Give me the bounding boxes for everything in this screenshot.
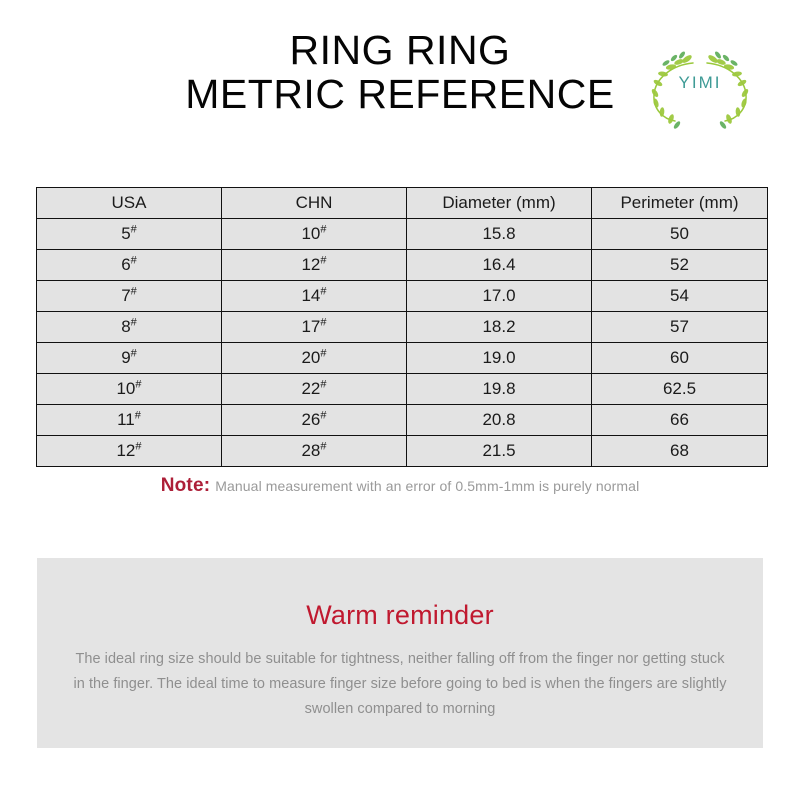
table-header-row: USA CHN Diameter (mm) Perimeter (mm) xyxy=(37,188,768,219)
table-row: 9#20#19.060 xyxy=(37,343,768,374)
cell-chn-size-4: 20# xyxy=(222,343,407,374)
hash-superscript: # xyxy=(135,378,141,390)
cell-usa-size-7: 12# xyxy=(37,436,222,467)
cell-chn-size-7: 28# xyxy=(222,436,407,467)
cell-chn-size-0: 10# xyxy=(222,219,407,250)
hash-superscript: # xyxy=(131,316,137,328)
cell-perimeter-0: 50 xyxy=(592,219,768,250)
column-header-diameter: Diameter (mm) xyxy=(407,188,592,219)
cell-usa-size-6: 11# xyxy=(37,405,222,436)
note-text: Manual measurement with an error of 0.5m… xyxy=(215,478,639,494)
hash-superscript: # xyxy=(320,378,326,390)
cell-diameter-7: 21.5 xyxy=(407,436,592,467)
cell-chn-size-2: 14# xyxy=(222,281,407,312)
hash-superscript: # xyxy=(131,254,137,266)
cell-usa-size-4: 9# xyxy=(37,343,222,374)
hash-superscript: # xyxy=(320,440,326,452)
cell-perimeter-1: 52 xyxy=(592,250,768,281)
cell-diameter-1: 16.4 xyxy=(407,250,592,281)
cell-diameter-5: 19.8 xyxy=(407,374,592,405)
cell-diameter-4: 19.0 xyxy=(407,343,592,374)
cell-chn-size-3: 17# xyxy=(222,312,407,343)
warm-reminder-title: Warm reminder xyxy=(37,600,763,631)
ring-size-table: USA CHN Diameter (mm) Perimeter (mm) 5#1… xyxy=(36,187,768,467)
table-row: 12#28#21.568 xyxy=(37,436,768,467)
note-label: Note: xyxy=(161,475,211,496)
warm-reminder-body: The ideal ring size should be suitable f… xyxy=(73,647,727,722)
logo-wordmark: YIMI xyxy=(641,73,759,93)
hash-superscript: # xyxy=(131,347,137,359)
cell-chn-size-5: 22# xyxy=(222,374,407,405)
table-row: 8#17#18.257 xyxy=(37,312,768,343)
cell-chn-size-1: 12# xyxy=(222,250,407,281)
page-header: RING RING METRIC REFERENCE xyxy=(0,0,800,165)
ring-size-table-container: USA CHN Diameter (mm) Perimeter (mm) 5#1… xyxy=(36,187,767,467)
column-header-perimeter: Perimeter (mm) xyxy=(592,188,768,219)
note-line: Note:Manual measurement with an error of… xyxy=(0,475,800,497)
column-header-chn: CHN xyxy=(222,188,407,219)
hash-superscript: # xyxy=(320,347,326,359)
table-row: 11#26#20.866 xyxy=(37,405,768,436)
cell-usa-size-2: 7# xyxy=(37,281,222,312)
cell-diameter-2: 17.0 xyxy=(407,281,592,312)
warm-reminder-panel: Warm reminder The ideal ring size should… xyxy=(37,558,763,748)
cell-perimeter-4: 60 xyxy=(592,343,768,374)
cell-usa-size-1: 6# xyxy=(37,250,222,281)
cell-usa-size-5: 10# xyxy=(37,374,222,405)
hash-superscript: # xyxy=(320,285,326,297)
cell-usa-size-0: 5# xyxy=(37,219,222,250)
hash-superscript: # xyxy=(135,440,141,452)
cell-perimeter-3: 57 xyxy=(592,312,768,343)
hash-superscript: # xyxy=(320,223,326,235)
hash-superscript: # xyxy=(131,285,137,297)
cell-chn-size-6: 26# xyxy=(222,405,407,436)
cell-perimeter-6: 66 xyxy=(592,405,768,436)
column-header-usa: USA xyxy=(37,188,222,219)
hash-superscript: # xyxy=(320,409,326,421)
cell-diameter-3: 18.2 xyxy=(407,312,592,343)
hash-superscript: # xyxy=(131,223,137,235)
cell-perimeter-7: 68 xyxy=(592,436,768,467)
table-row: 5#10#15.850 xyxy=(37,219,768,250)
hash-superscript: # xyxy=(320,254,326,266)
cell-usa-size-3: 8# xyxy=(37,312,222,343)
hash-superscript: # xyxy=(135,409,141,421)
cell-diameter-0: 15.8 xyxy=(407,219,592,250)
cell-perimeter-2: 54 xyxy=(592,281,768,312)
table-row: 7#14#17.054 xyxy=(37,281,768,312)
cell-diameter-6: 20.8 xyxy=(407,405,592,436)
brand-logo: YIMI xyxy=(641,33,759,133)
table-row: 6#12#16.452 xyxy=(37,250,768,281)
hash-superscript: # xyxy=(320,316,326,328)
table-row: 10#22#19.862.5 xyxy=(37,374,768,405)
cell-perimeter-5: 62.5 xyxy=(592,374,768,405)
